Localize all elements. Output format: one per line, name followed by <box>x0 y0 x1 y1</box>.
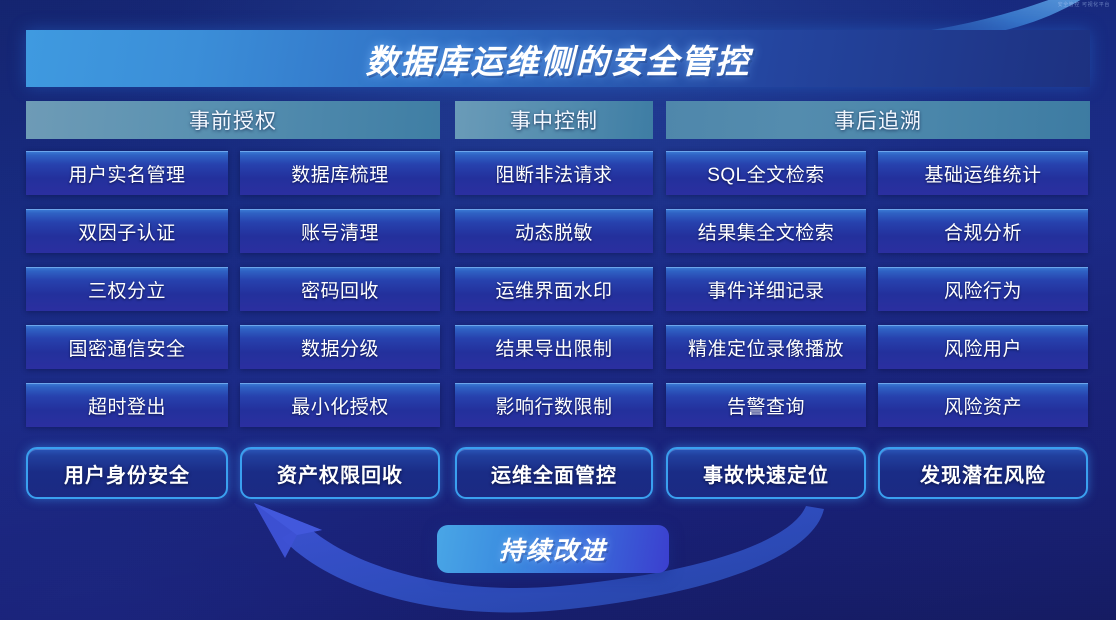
capability-card[interactable]: 三权分立 <box>26 267 228 311</box>
slide-title-bar: 数据库运维侧的安全管控 <box>26 30 1090 87</box>
capability-card[interactable]: 密码回收 <box>240 267 440 311</box>
capability-row: 三权分立 密码回收 运维界面水印 事件详细记录 风险行为 <box>26 267 1090 311</box>
capability-card[interactable]: 风险行为 <box>878 267 1088 311</box>
capability-card[interactable]: 精准定位录像播放 <box>666 325 866 369</box>
capability-card[interactable]: 基础运维统计 <box>878 151 1088 195</box>
capability-row: 双因子认证 账号清理 动态脱敏 结果集全文检索 合规分析 <box>26 209 1090 253</box>
outcome-card[interactable]: 运维全面管控 <box>455 447 653 499</box>
group-header-label: 事前授权 <box>189 105 277 135</box>
capability-card[interactable]: 数据分级 <box>240 325 440 369</box>
capability-row: 国密通信安全 数据分级 结果导出限制 精准定位录像播放 风险用户 <box>26 325 1090 369</box>
capability-grid: 用户实名管理 数据库梳理 阻断非法请求 SQL全文检索 基础运维统计 双因子认证… <box>26 151 1090 441</box>
capability-card[interactable]: 合规分析 <box>878 209 1088 253</box>
outcome-card[interactable]: 用户身份安全 <box>26 447 228 499</box>
group-header-post-audit: 事后追溯 <box>666 101 1090 139</box>
capability-card[interactable]: 影响行数限制 <box>455 383 653 427</box>
capability-card[interactable]: 结果导出限制 <box>455 325 653 369</box>
capability-card[interactable]: 风险用户 <box>878 325 1088 369</box>
capability-card[interactable]: 超时登出 <box>26 383 228 427</box>
outcome-row: 用户身份安全 资产权限回收 运维全面管控 事故快速定位 发现潜在风险 <box>26 447 1090 499</box>
group-header-in-process-control: 事中控制 <box>455 101 653 139</box>
watermark-label: 安全管控 可视化平台 <box>1058 1 1110 8</box>
continuous-improvement-badge[interactable]: 持续改进 <box>437 525 669 573</box>
capability-card[interactable]: 阻断非法请求 <box>455 151 653 195</box>
capability-card[interactable]: 结果集全文检索 <box>666 209 866 253</box>
outcome-card[interactable]: 资产权限回收 <box>240 447 440 499</box>
outcome-card[interactable]: 发现潜在风险 <box>878 447 1088 499</box>
capability-card[interactable]: 事件详细记录 <box>666 267 866 311</box>
capability-card[interactable]: 账号清理 <box>240 209 440 253</box>
group-header-label: 事后追溯 <box>834 105 922 135</box>
capability-row: 用户实名管理 数据库梳理 阻断非法请求 SQL全文检索 基础运维统计 <box>26 151 1090 195</box>
capability-card[interactable]: 告警查询 <box>666 383 866 427</box>
capability-card[interactable]: 用户实名管理 <box>26 151 228 195</box>
capability-card[interactable]: 双因子认证 <box>26 209 228 253</box>
capability-card[interactable]: 运维界面水印 <box>455 267 653 311</box>
capability-card[interactable]: 风险资产 <box>878 383 1088 427</box>
group-header-pre-authorization: 事前授权 <box>26 101 440 139</box>
capability-card[interactable]: SQL全文检索 <box>666 151 866 195</box>
group-header-label: 事中控制 <box>510 105 598 135</box>
capability-card[interactable]: 最小化授权 <box>240 383 440 427</box>
page-title: 数据库运维侧的安全管控 <box>366 35 751 83</box>
capability-card[interactable]: 国密通信安全 <box>26 325 228 369</box>
capability-card[interactable]: 数据库梳理 <box>240 151 440 195</box>
slide-canvas: 安全管控 可视化平台 数据库运维侧的安全管控 事前授权 事中控制 事后追溯 用户… <box>0 0 1116 620</box>
capability-card[interactable]: 动态脱敏 <box>455 209 653 253</box>
outcome-card[interactable]: 事故快速定位 <box>666 447 866 499</box>
capability-row: 超时登出 最小化授权 影响行数限制 告警查询 风险资产 <box>26 383 1090 427</box>
badge-label: 持续改进 <box>499 531 607 567</box>
